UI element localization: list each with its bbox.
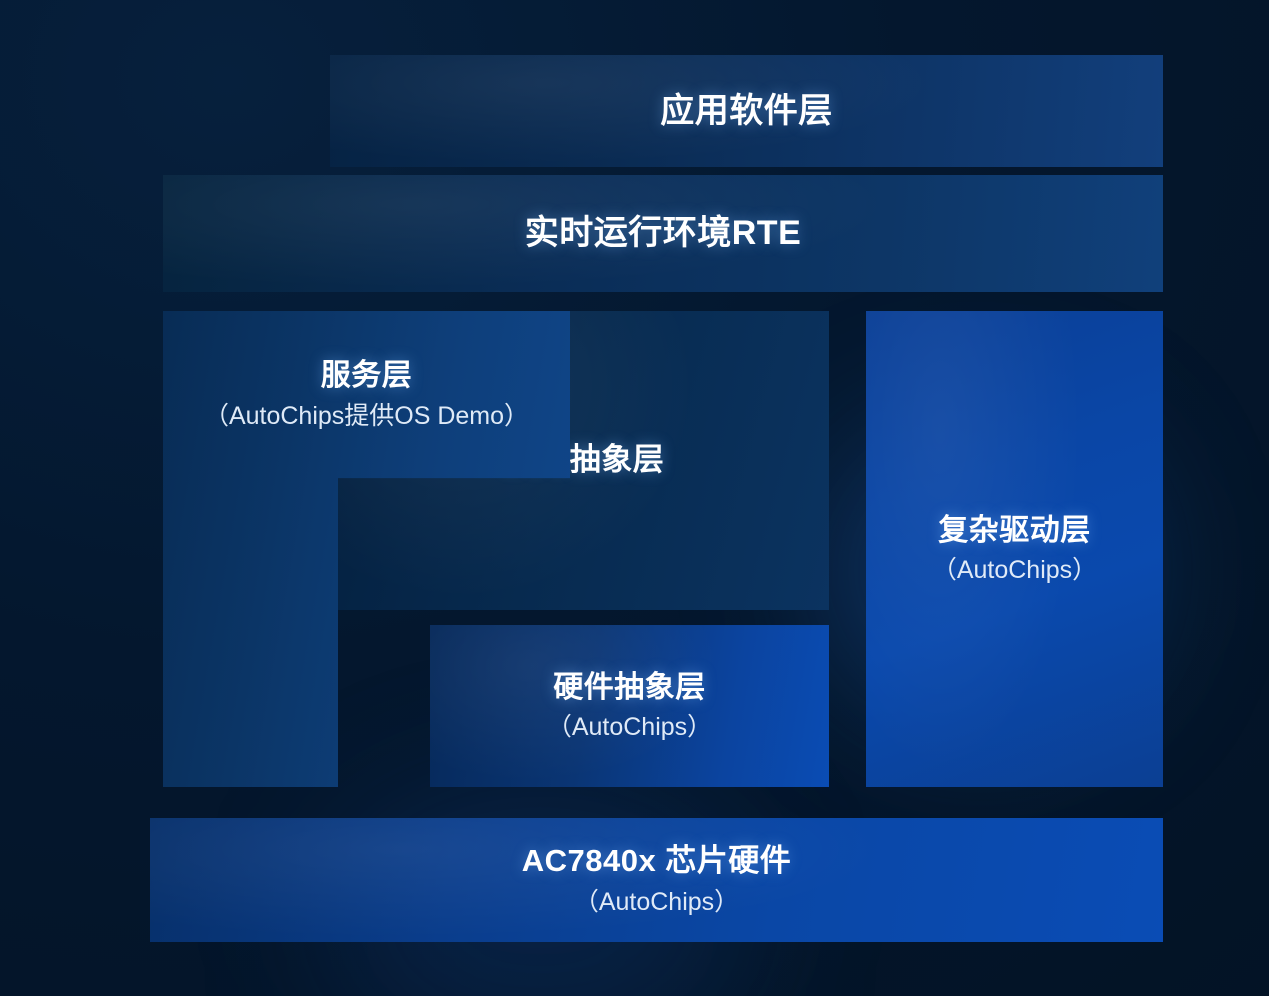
- block-chip-hardware-layer: AC7840x 芯片硬件 （AutoChips）: [150, 818, 1163, 942]
- block-title: 硬件抽象层: [553, 669, 706, 707]
- autosar-architecture-diagram: 应用软件层 实时运行环境RTE ECU抽象层 服务层 （AutoChips提供O…: [0, 0, 1269, 996]
- block-title: 服务层: [321, 357, 413, 395]
- block-rte-layer: 实时运行环境RTE: [163, 175, 1163, 292]
- block-title: 实时运行环境RTE: [525, 212, 802, 255]
- block-subtitle: （AutoChips）: [547, 712, 712, 743]
- block-application-software-layer: 应用软件层: [330, 55, 1163, 167]
- block-complex-driver-layer: 复杂驱动层 （AutoChips）: [866, 311, 1163, 787]
- block-subtitle: （AutoChips提供OS Demo）: [204, 401, 529, 432]
- block-title: AC7840x 芯片硬件: [522, 842, 792, 881]
- block-title: 复杂驱动层: [938, 512, 1091, 550]
- block-subtitle: （AutoChips）: [574, 887, 739, 918]
- block-text-stack: 服务层 （AutoChips提供OS Demo）: [163, 311, 570, 478]
- block-hardware-abstraction-layer: 硬件抽象层 （AutoChips）: [430, 625, 829, 787]
- block-title: 应用软件层: [660, 90, 833, 133]
- block-subtitle: （AutoChips）: [932, 555, 1097, 586]
